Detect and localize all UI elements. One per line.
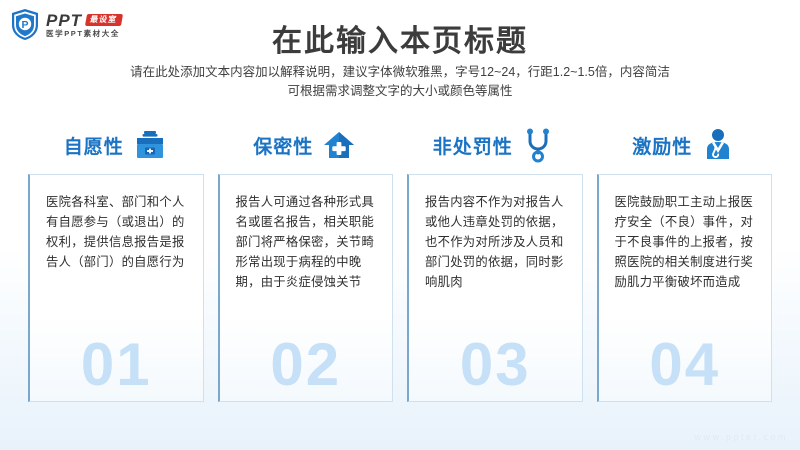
column-incentive: 激励性 医院鼓励职工主动上报医疗安全（不良）事件，对于不良事件的上报者，按照医院…: [597, 122, 773, 402]
page-title: 在此输入本页标题: [0, 16, 800, 60]
doctor-icon: [700, 127, 736, 163]
column-title: 激励性: [632, 132, 692, 159]
card-number: 01: [30, 335, 203, 395]
subtitle-line-2: 可根据需求调整文字的大小或颜色等属性: [0, 82, 800, 101]
card-body-text: 医院鼓励职工主动上报医疗安全（不良）事件，对于不良事件的上报者，按照医院的相关制…: [599, 175, 772, 293]
column-header: 激励性: [597, 122, 773, 168]
subtitle-line-1: 请在此处添加文本内容加以解释说明，建议字体微软雅黑，字号12~24，行距1.2~…: [0, 63, 800, 82]
stethoscope-icon: [521, 127, 557, 163]
card-number: 04: [599, 335, 772, 395]
column-voluntary: 自愿性 医院各科室、部门和个人有自愿参与（或退出）的权利，提供信息报告是报告人（…: [28, 122, 204, 402]
column-header: 自愿性: [28, 122, 204, 168]
column-confidential: 保密性 报告人可通过各种形式具名或匿名报告，相关职能部门将严格保密，关节畸形常出…: [218, 122, 394, 402]
card-body-text: 医院各科室、部门和个人有自愿参与（或退出）的权利，提供信息报告是报告人（部门）的…: [30, 175, 203, 273]
feature-columns: 自愿性 医院各科室、部门和个人有自愿参与（或退出）的权利，提供信息报告是报告人（…: [28, 122, 772, 402]
feature-card: 医院各科室、部门和个人有自愿参与（或退出）的权利，提供信息报告是报告人（部门）的…: [28, 174, 204, 402]
column-title: 自愿性: [64, 132, 124, 159]
feature-card: 报告内容不作为对报告人或他人违章处罚的依据，也不作为对所涉及人员和部门处罚的依据…: [407, 174, 583, 402]
card-body-text: 报告内容不作为对报告人或他人违章处罚的依据，也不作为对所涉及人员和部门处罚的依据…: [409, 175, 582, 293]
hospital-cross-icon: [321, 127, 357, 163]
card-number: 03: [409, 335, 582, 395]
column-header: 非处罚性: [407, 122, 583, 168]
card-body-text: 报告人可通过各种形式具名或匿名报告，相关职能部门将严格保密，关节畸形常出现于病程…: [220, 175, 393, 293]
feature-card: 报告人可通过各种形式具名或匿名报告，相关职能部门将严格保密，关节畸形常出现于病程…: [218, 174, 394, 402]
column-header: 保密性: [218, 122, 394, 168]
card-number: 02: [220, 335, 393, 395]
column-nonpunitive: 非处罚性 报告内容不作为对报告人或他人违章处罚的依据，也不作为对所涉及人员和部门…: [407, 122, 583, 402]
first-aid-kit-icon: [132, 127, 168, 163]
column-title: 保密性: [253, 132, 313, 159]
column-title: 非处罚性: [433, 132, 513, 159]
page-subtitle: 请在此处添加文本内容加以解释说明，建议字体微软雅黑，字号12~24，行距1.2~…: [0, 63, 800, 102]
footer-watermark: www.ppter.com: [694, 432, 788, 442]
feature-card: 医院鼓励职工主动上报医疗安全（不良）事件，对于不良事件的上报者，按照医院的相关制…: [597, 174, 773, 402]
